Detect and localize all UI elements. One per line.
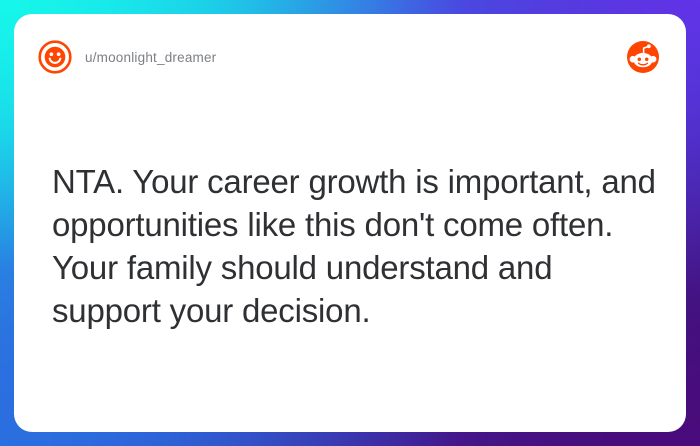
smiley-face-avatar-icon[interactable] bbox=[38, 40, 72, 74]
reddit-snoo-logo-icon[interactable] bbox=[626, 40, 660, 74]
screenshot-stage: u/moonlight_dreamer NTA. Y bbox=[0, 0, 700, 446]
card-body: NTA. Your career growth is important, an… bbox=[52, 160, 662, 332]
card-header: u/moonlight_dreamer bbox=[14, 14, 686, 100]
post-text: NTA. Your career growth is important, an… bbox=[52, 160, 662, 332]
reddit-comment-card: u/moonlight_dreamer NTA. Y bbox=[14, 14, 686, 432]
username-label: u/moonlight_dreamer bbox=[85, 50, 216, 65]
